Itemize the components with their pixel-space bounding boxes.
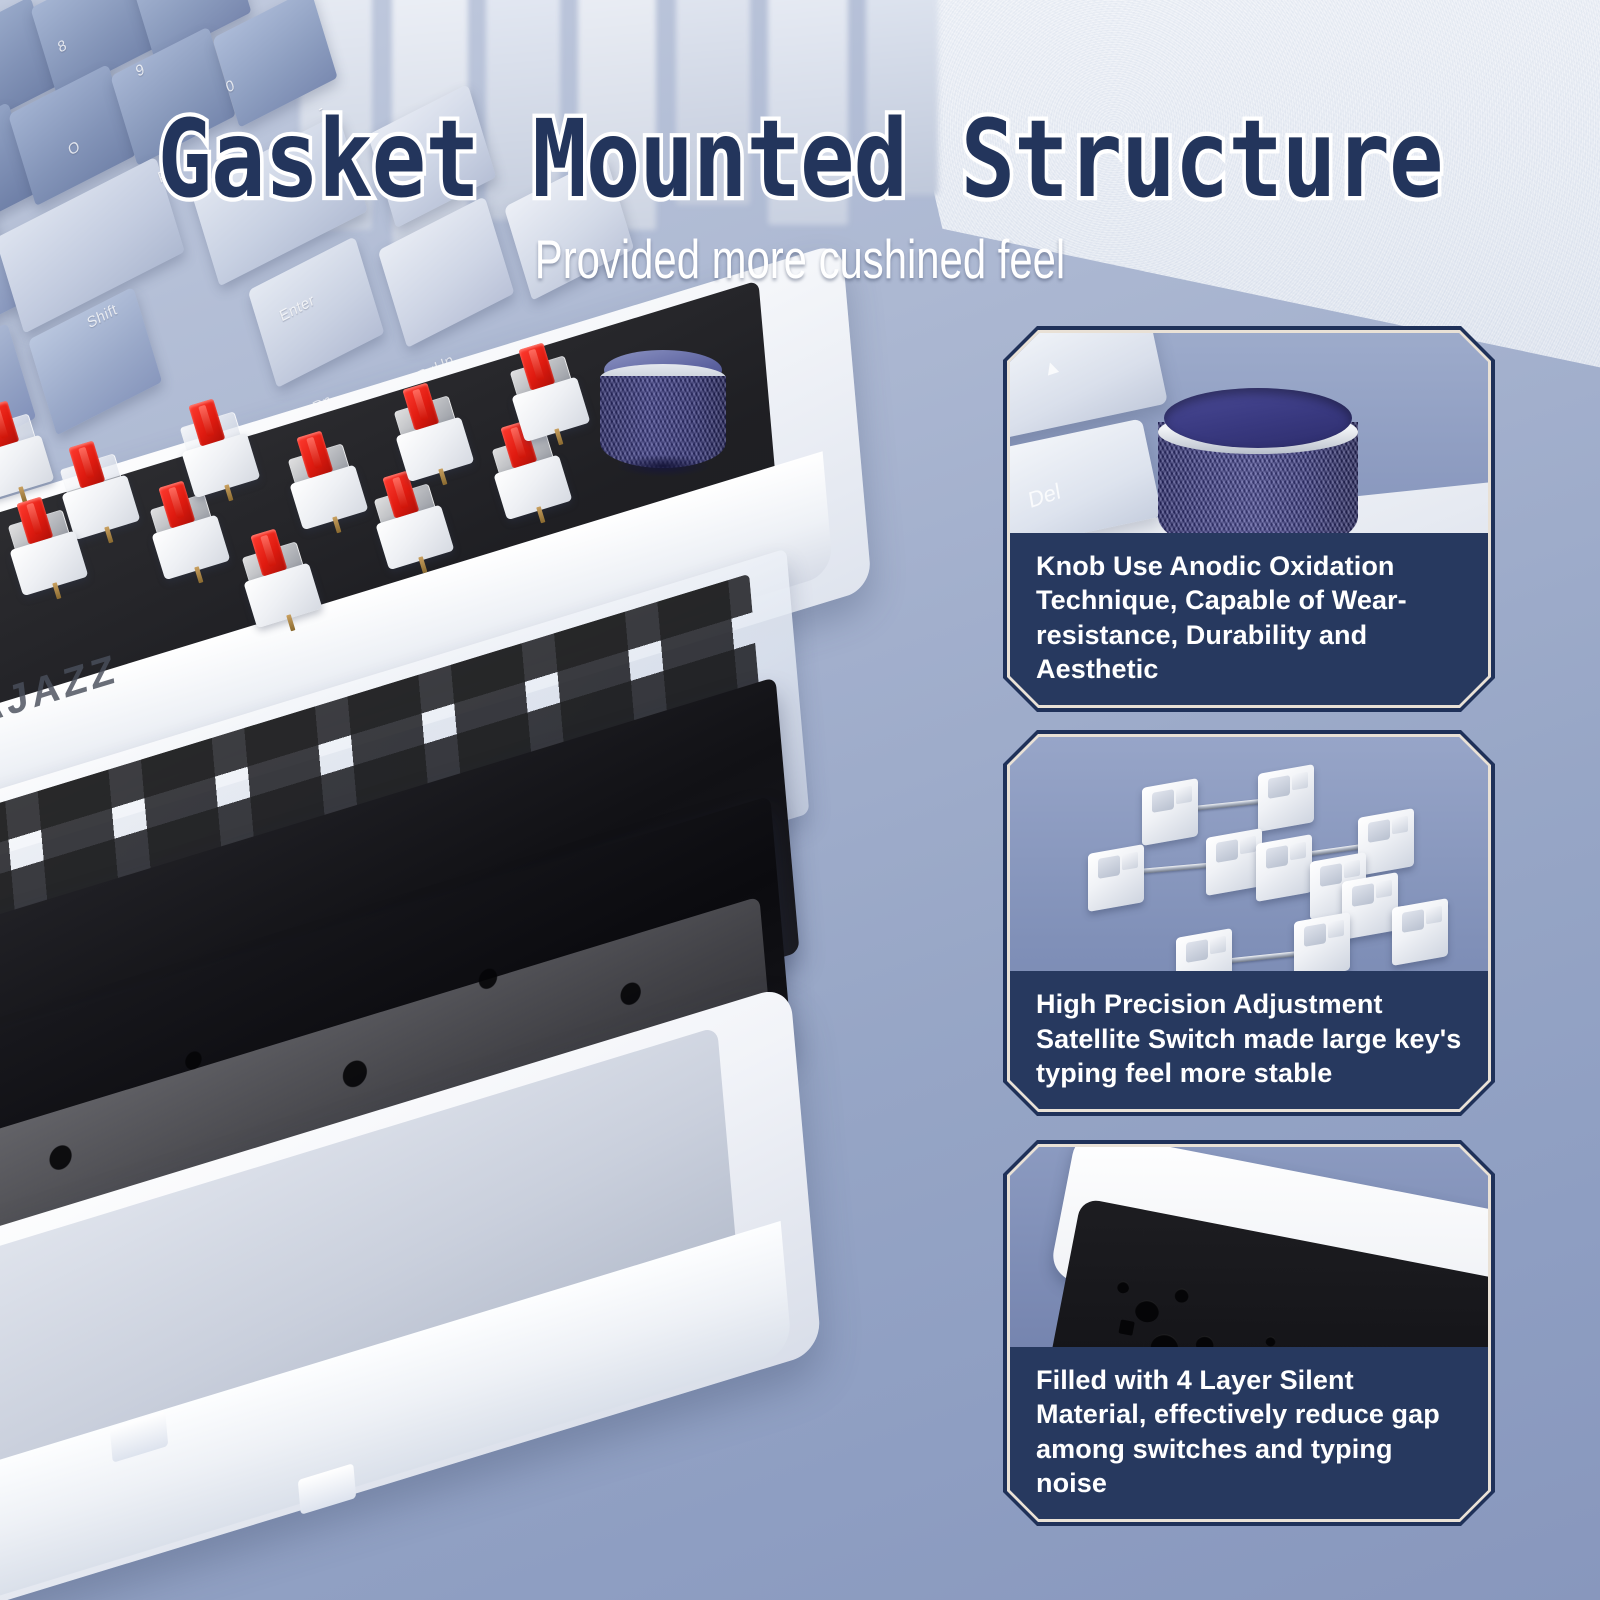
stabilizer-housing xyxy=(1258,769,1314,827)
mounting-hole xyxy=(1174,1287,1190,1303)
panel-caption: Knob Use Anodic Oxidation Technique, Cap… xyxy=(1010,533,1488,705)
infographic-background: 8 9 0 - O P Shift Enter PgUp PgDn AJAZZ xyxy=(0,0,1600,1600)
panel-inner-border: High Precision Adjustment Satellite Swit… xyxy=(1007,734,1491,1112)
stabilizer-housing xyxy=(1088,849,1144,907)
panel-body: ▲ Filled with 4 Layer Silent Material, e… xyxy=(1010,1147,1488,1519)
mounting-hole xyxy=(1133,1298,1161,1324)
mounting-hole xyxy=(1265,1335,1277,1347)
knob-shadow xyxy=(616,455,710,477)
page-subtitle: Provided more cushined feel xyxy=(56,228,1544,291)
stabilizer-housing xyxy=(1358,813,1414,871)
keycap xyxy=(1010,333,1168,441)
stabilizer-housing xyxy=(1392,903,1448,961)
stabilizer-housing xyxy=(1342,877,1398,935)
stabilizer-housing xyxy=(1256,839,1312,897)
page-title: Gasket Mounted Structure xyxy=(0,96,1600,222)
panel-inner-border: Del ▲ Knob Use Anodic Oxidation Techniqu… xyxy=(1007,330,1491,708)
panel-body: High Precision Adjustment Satellite Swit… xyxy=(1010,737,1488,1109)
panel-caption: Filled with 4 Layer Silent Material, eff… xyxy=(1010,1347,1488,1519)
panel-inner-border: ▲ Filled with 4 Layer Silent Material, e… xyxy=(1007,1144,1491,1522)
panel-body: Del ▲ Knob Use Anodic Oxidation Techniqu… xyxy=(1010,333,1488,705)
mounting-hole xyxy=(1116,1280,1130,1294)
feature-panel-silent-material[interactable]: ▲ Filled with 4 Layer Silent Material, e… xyxy=(1003,1140,1495,1526)
panel-caption: High Precision Adjustment Satellite Swit… xyxy=(1010,971,1488,1109)
feature-panel-stabilizers[interactable]: High Precision Adjustment Satellite Swit… xyxy=(1003,730,1495,1116)
stabilizer-housing xyxy=(1142,783,1198,841)
feature-panel-knob[interactable]: Del ▲ Knob Use Anodic Oxidation Techniqu… xyxy=(1003,326,1495,712)
rotary-knob xyxy=(600,350,725,475)
square-cutout xyxy=(1118,1319,1134,1335)
stabilizer-housing xyxy=(1294,917,1350,975)
stabilizer-housing xyxy=(1206,833,1262,891)
